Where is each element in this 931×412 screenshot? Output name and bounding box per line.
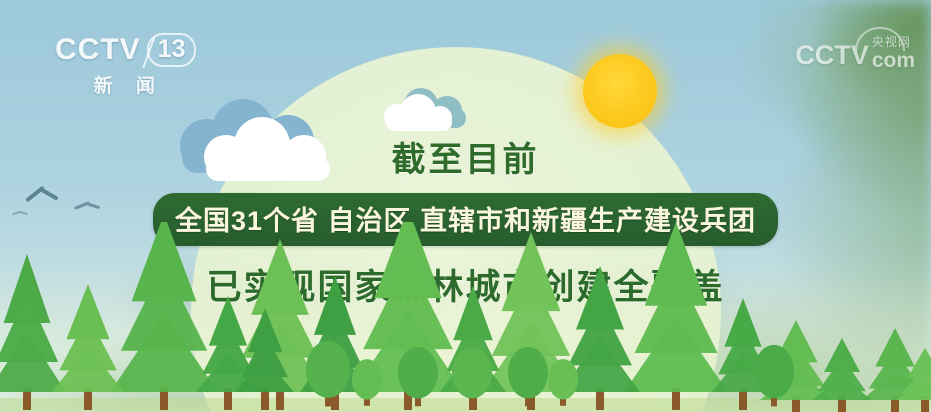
logo-top-row: CCTV 13 [55, 33, 196, 67]
tree-pine-1 [110, 222, 218, 410]
tree-canopy [754, 345, 794, 398]
tree-pine-8 [52, 284, 124, 410]
tree-round-21 [508, 347, 548, 406]
tree-pine-2 [624, 222, 728, 410]
news-graphic-frame: 截至目前 全国31个省 自治区 直辖市和新疆生产建设兵团 已实现国家森林城市创建… [0, 0, 931, 412]
bird-3-icon [12, 208, 28, 218]
sun-core [583, 54, 657, 128]
tree-round-17 [306, 341, 350, 407]
cctv13-news-logo: CCTV 13 新 闻 [55, 33, 196, 98]
watermark-com-text: com [872, 50, 915, 71]
tree-canopy [352, 359, 382, 399]
tree-canopy [306, 341, 350, 398]
cloud-small-center-icon [378, 82, 482, 132]
tree-pine-5 [0, 254, 66, 410]
ground-band [0, 398, 931, 412]
stylized-tree-line [0, 222, 931, 412]
cloud-large-left-icon [178, 95, 350, 175]
bird-1-icon [24, 178, 58, 204]
tree-canopy [508, 347, 548, 399]
tree-tier [624, 317, 728, 392]
sun-icon [575, 46, 665, 136]
tree-tier [110, 313, 218, 392]
tree-round-20 [452, 347, 492, 406]
tree-canopy [452, 347, 492, 399]
cctv-wordmark: CCTV [55, 33, 141, 67]
bird-2-icon [74, 196, 100, 214]
tree-canopy [548, 359, 578, 399]
logo-subtitle: 新 闻 [55, 71, 196, 98]
cctv-com-watermark: CCTV 央视网 com [795, 36, 915, 71]
tree-canopy [398, 347, 438, 399]
